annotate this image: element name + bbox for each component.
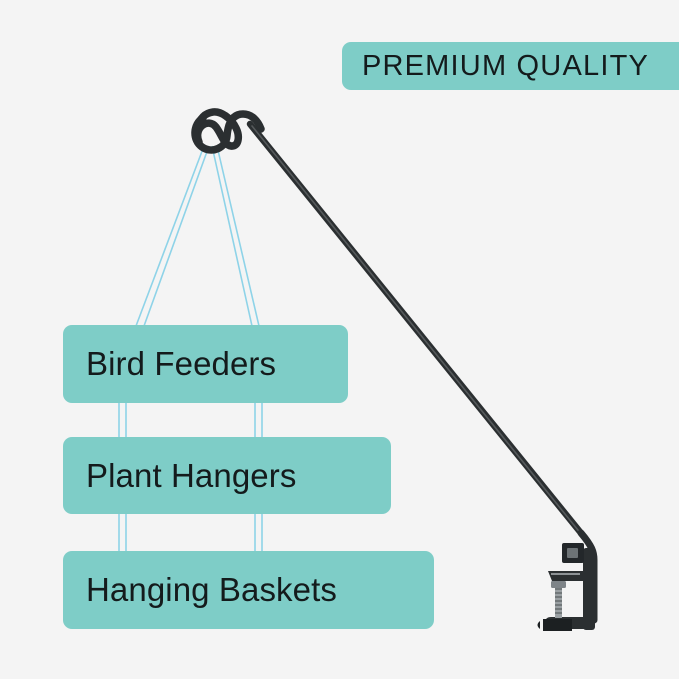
feature-label-text: Bird Feeders — [86, 345, 276, 383]
leader-line-right-a — [212, 146, 252, 326]
premium-quality-badge-label: PREMIUM QUALITY — [362, 50, 649, 83]
premium-quality-badge: PREMIUM QUALITY — [342, 42, 679, 90]
leader-line-left-b — [144, 146, 209, 326]
clamp-upper-jaw — [548, 571, 586, 581]
feature-label-plant-hangers: Plant Hangers — [63, 437, 391, 514]
clamp-screw-pad — [551, 581, 566, 588]
clamp-thumb-handle-knob — [538, 621, 541, 629]
clamp-screw-threads — [555, 589, 562, 613]
c-clamp — [538, 543, 596, 631]
clamp-upper-bracket-inner — [567, 548, 578, 558]
product-photo-scene: PREMIUM QUALITY Bird Feeders Plant Hange… — [0, 0, 679, 679]
leader-line-left-a — [136, 146, 204, 326]
leader-line-right-b — [217, 146, 259, 326]
s-hook-curl — [195, 114, 261, 150]
clamp-upper-jaw-highlight — [551, 573, 580, 575]
feature-label-text: Plant Hangers — [86, 457, 296, 495]
clamp-thumb-handle — [543, 619, 572, 631]
feature-label-text: Hanging Baskets — [86, 571, 337, 609]
feature-label-hanging-baskets: Hanging Baskets — [63, 551, 434, 629]
feature-label-bird-feeders: Bird Feeders — [63, 325, 348, 403]
